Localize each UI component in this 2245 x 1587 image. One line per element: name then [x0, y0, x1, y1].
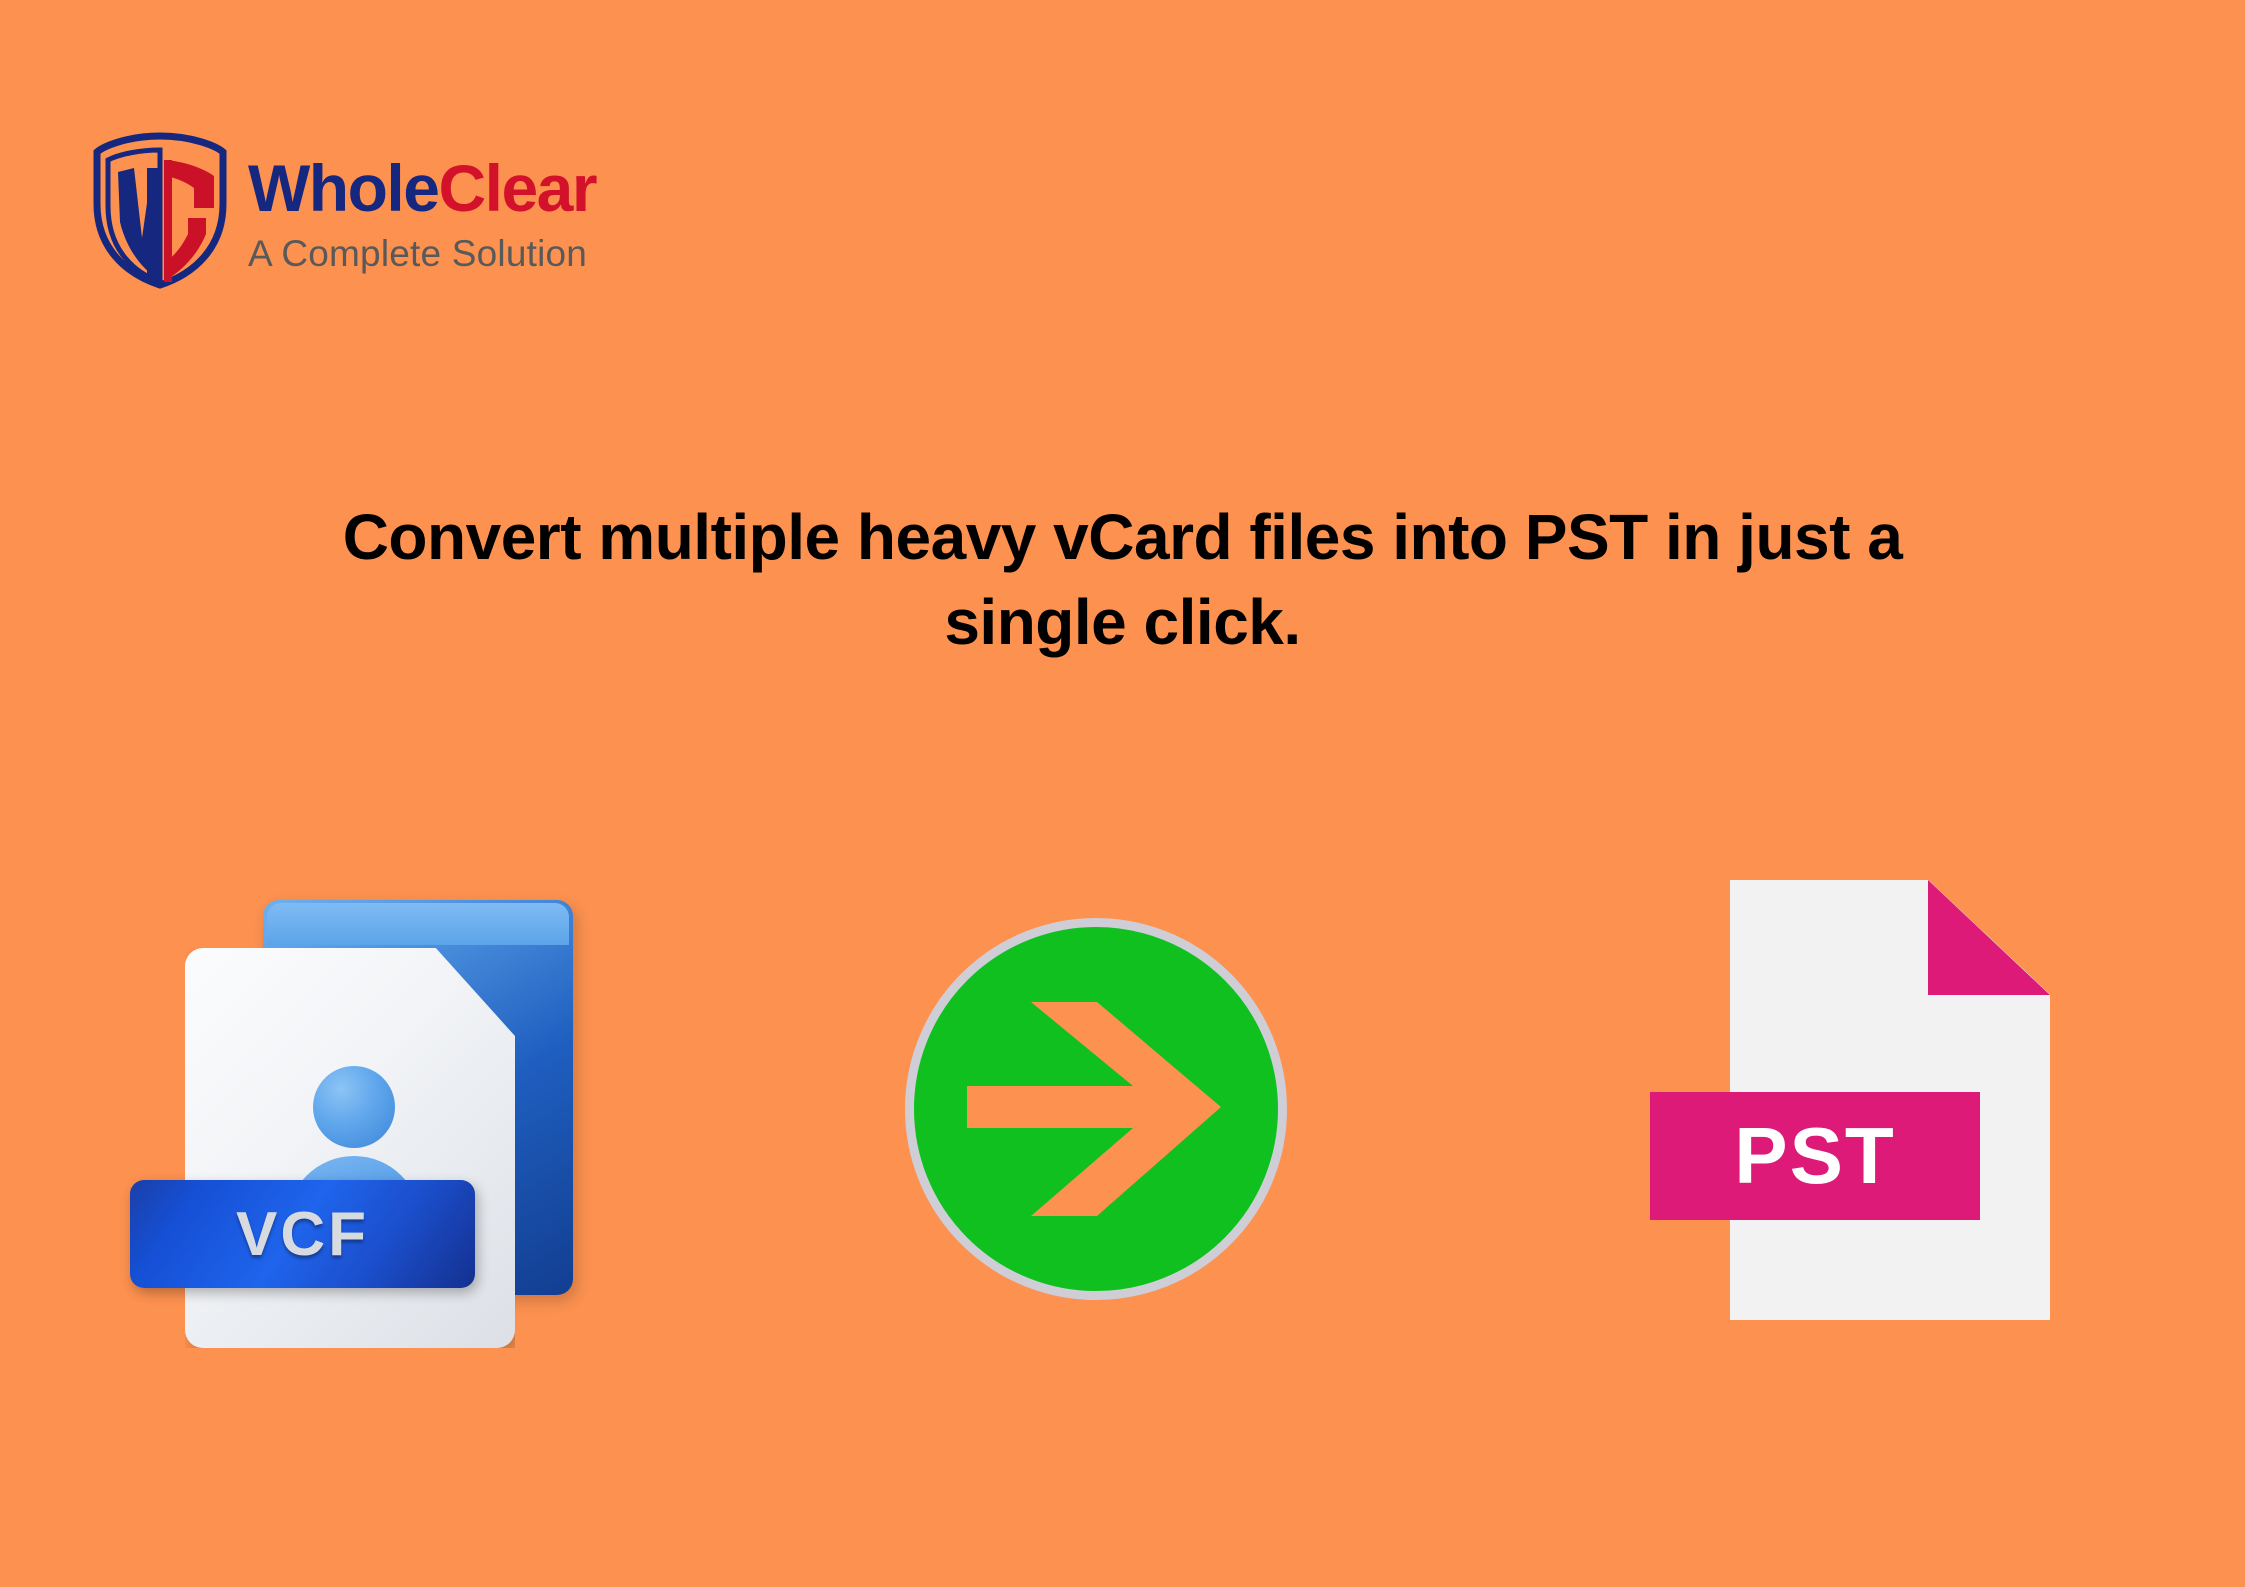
headline-text: Convert multiple heavy vCard files into … — [0, 495, 2245, 665]
pst-file-icon: PST — [1650, 880, 2070, 1350]
vcf-contact-avatar-head-icon — [313, 1066, 395, 1148]
vcf-front-document — [185, 948, 515, 1348]
vcf-label-text: VCF — [236, 1199, 369, 1270]
pst-label-banner: PST — [1650, 1092, 1980, 1220]
brand-text: WholeClear A Complete Solution — [248, 149, 596, 272]
arrow-right-glyph-icon — [967, 1002, 1225, 1216]
brand-word-clear: Clear — [438, 151, 596, 225]
vcf-file-icon: VCF — [185, 900, 590, 1370]
convert-arrow-icon — [905, 918, 1287, 1300]
conversion-flow: VCF PST — [0, 880, 2245, 1400]
brand-word-whole: Whole — [248, 151, 438, 225]
pst-label-text: PST — [1734, 1110, 1896, 1202]
brand-wordmark: WholeClear — [248, 155, 596, 221]
vcf-label-ribbon: VCF — [130, 1180, 475, 1288]
brand-logo[interactable]: WholeClear A Complete Solution — [90, 130, 596, 290]
wholeclear-shield-logo-icon — [90, 130, 230, 290]
promo-banner: WholeClear A Complete Solution Convert m… — [0, 0, 2245, 1587]
brand-tagline: A Complete Solution — [248, 235, 596, 272]
vcf-back-document-top — [267, 903, 569, 945]
